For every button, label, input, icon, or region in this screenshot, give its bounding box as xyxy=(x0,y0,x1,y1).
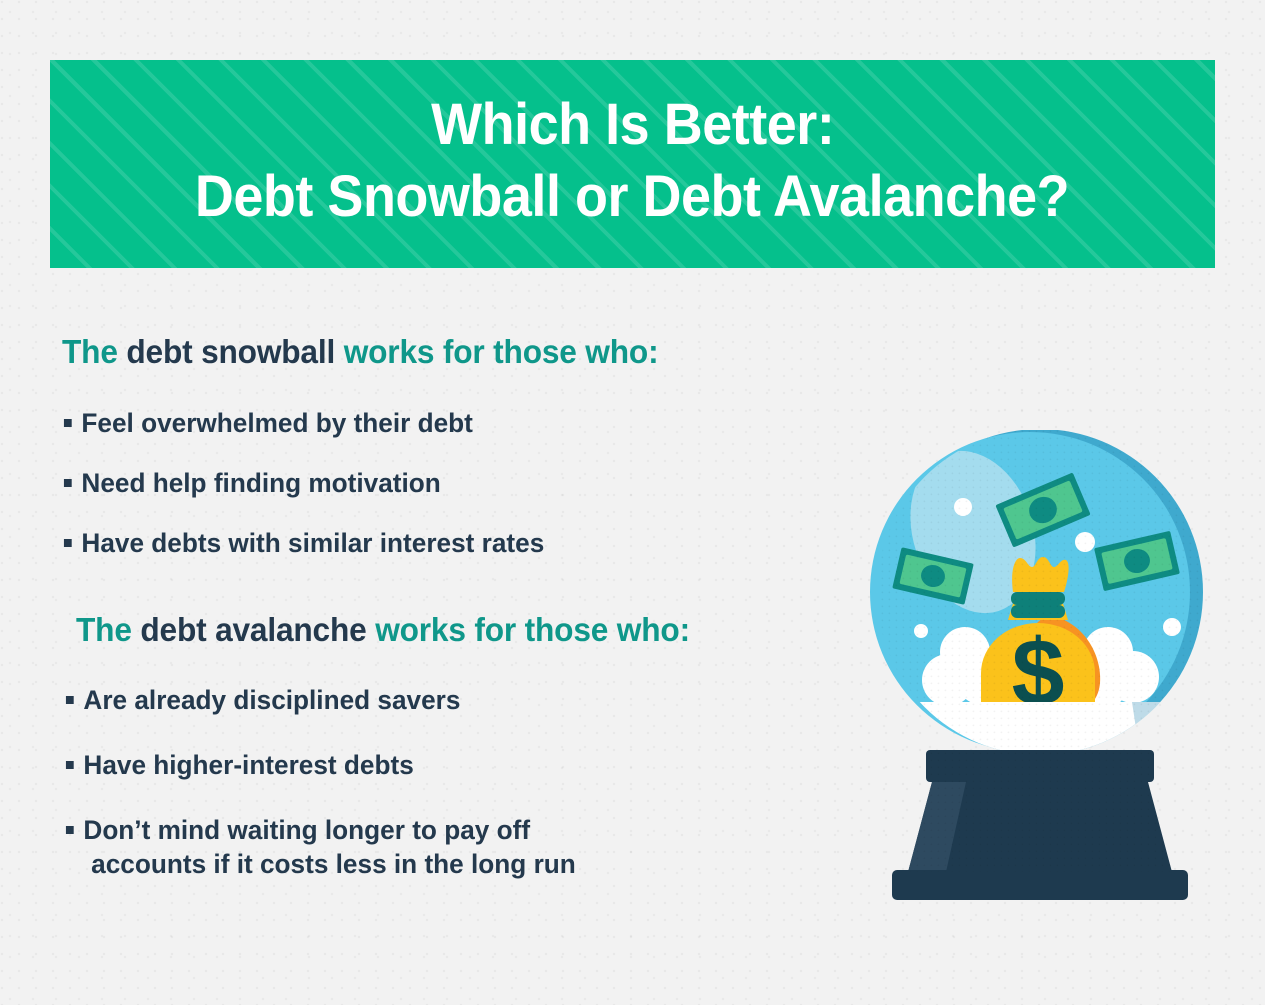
heading-part-1: The xyxy=(62,333,126,370)
list-item: Have higher-interest debts xyxy=(64,748,828,782)
bullet-square-icon xyxy=(66,761,74,769)
bullet-text: Need help finding motivation xyxy=(81,466,828,500)
bullet-text: Feel overwhelmed by their debt xyxy=(81,406,828,440)
bullet-square-icon xyxy=(64,479,72,487)
bullet-text: Have debts with similar interest rates xyxy=(81,526,828,560)
snow-globe-svg: $ xyxy=(860,430,1220,910)
heading-part-3: works for those who: xyxy=(335,333,658,370)
list-item: Are already disciplined savers xyxy=(64,683,828,717)
infographic-canvas: Which Is Better: Debt Snowball or Debt A… xyxy=(0,0,1265,1005)
heading-part-3: works for those who: xyxy=(367,611,690,648)
bullet-square-icon xyxy=(66,696,74,704)
list-item: Don’t mind waiting longer to pay off acc… xyxy=(64,813,828,881)
bullet-text-continued: accounts if it costs less in the long ru… xyxy=(83,847,828,881)
section-heading-debt-avalanche: The debt avalanche works for those who: xyxy=(76,612,821,648)
list-item: Need help finding motivation xyxy=(62,466,828,500)
banner-title-line-1: Which Is Better: xyxy=(431,89,834,161)
section-heading-debt-snowball: The debt snowball works for those who: xyxy=(62,334,820,370)
heading-part-1: The xyxy=(76,611,140,648)
stand-foot xyxy=(892,870,1188,900)
snow-globe-illustration: $ xyxy=(860,430,1220,910)
header-banner: Which Is Better: Debt Snowball or Debt A… xyxy=(50,60,1215,268)
bullet-list-debt-avalanche: Are already disciplined savers Have high… xyxy=(64,683,852,881)
bullet-text: Are already disciplined savers xyxy=(83,683,828,717)
bullet-square-icon xyxy=(64,539,72,547)
section-debt-avalanche: The debt avalanche works for those who: … xyxy=(62,612,852,880)
bullet-square-icon xyxy=(66,826,74,834)
banner-title-line-2: Debt Snowball or Debt Avalanche? xyxy=(195,161,1069,233)
heading-part-2: debt avalanche xyxy=(140,611,366,648)
list-item: Have debts with similar interest rates xyxy=(62,526,828,560)
globe-stand xyxy=(892,750,1188,900)
bullet-text: Have higher-interest debts xyxy=(83,748,828,782)
bullet-text: Don’t mind waiting longer to pay off xyxy=(83,813,828,847)
section-debt-snowball: The debt snowball works for those who: F… xyxy=(62,334,852,560)
content-column: The debt snowball works for those who: F… xyxy=(62,334,852,912)
heading-part-2: debt snowball xyxy=(126,333,335,370)
bullet-list-debt-snowball: Feel overwhelmed by their debt Need help… xyxy=(62,406,852,560)
bullet-square-icon xyxy=(64,419,72,427)
list-item: Feel overwhelmed by their debt xyxy=(62,406,828,440)
